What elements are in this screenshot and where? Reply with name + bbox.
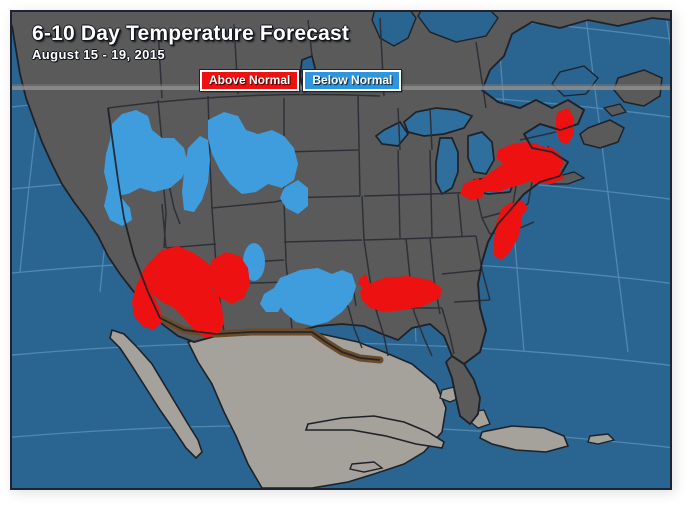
page-title: 6-10 Day Temperature Forecast bbox=[32, 22, 349, 45]
map-header: 6-10 Day Temperature Forecast August 15 … bbox=[32, 22, 349, 62]
legend-item-above-normal[interactable]: Above Normal bbox=[200, 70, 299, 91]
legend: Above Normal Below Normal bbox=[200, 70, 401, 91]
forecast-date-range: August 15 - 19, 2015 bbox=[32, 47, 349, 62]
legend-item-below-normal[interactable]: Below Normal bbox=[303, 70, 401, 91]
forecast-map-frame: 6-10 Day Temperature Forecast August 15 … bbox=[10, 10, 672, 490]
screenshot-root: 6-10 Day Temperature Forecast August 15 … bbox=[0, 0, 692, 532]
